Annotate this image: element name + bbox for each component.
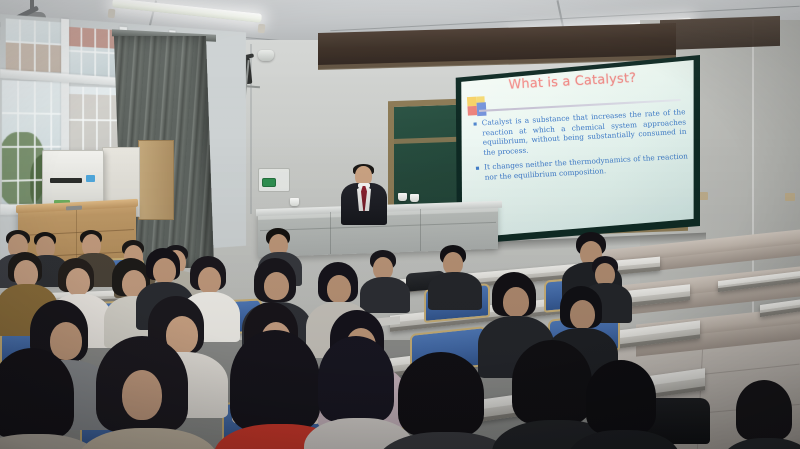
slide-decoration-blocks xyxy=(467,96,491,120)
ceiling-valance-beam xyxy=(660,16,780,50)
air-conditioner-vent xyxy=(50,178,82,183)
light-fixture-cap xyxy=(258,24,266,34)
slide-bullet: It changes neither the thermodynamics of… xyxy=(476,152,689,183)
presenter-speaker xyxy=(336,166,392,224)
wall-mounted-sensor xyxy=(258,50,274,61)
slide-bullet-list: Catalyst is a substance that increases t… xyxy=(473,107,689,188)
wooden-cabinet xyxy=(138,140,174,220)
wall-tape-mark xyxy=(785,193,795,201)
lectern-remote[interactable] xyxy=(66,206,82,211)
deco-red-block xyxy=(467,106,477,116)
desk-panel-seam xyxy=(420,209,421,251)
exit-sign-icon xyxy=(262,178,276,187)
paper-cup[interactable] xyxy=(290,198,299,206)
lecture-hall-photo: What is a Catalyst? Catalyst is a substa… xyxy=(0,0,800,449)
window-pane xyxy=(6,18,63,72)
light-fixture-cap xyxy=(108,9,116,19)
desk-panel-seam xyxy=(330,212,331,254)
paper-cup[interactable] xyxy=(398,193,407,201)
air-conditioner-badge xyxy=(86,175,95,182)
deco-yellow-block xyxy=(467,97,477,107)
slide-bullet: Catalyst is a substance that increases t… xyxy=(473,107,687,158)
paper-cup[interactable] xyxy=(410,194,419,202)
